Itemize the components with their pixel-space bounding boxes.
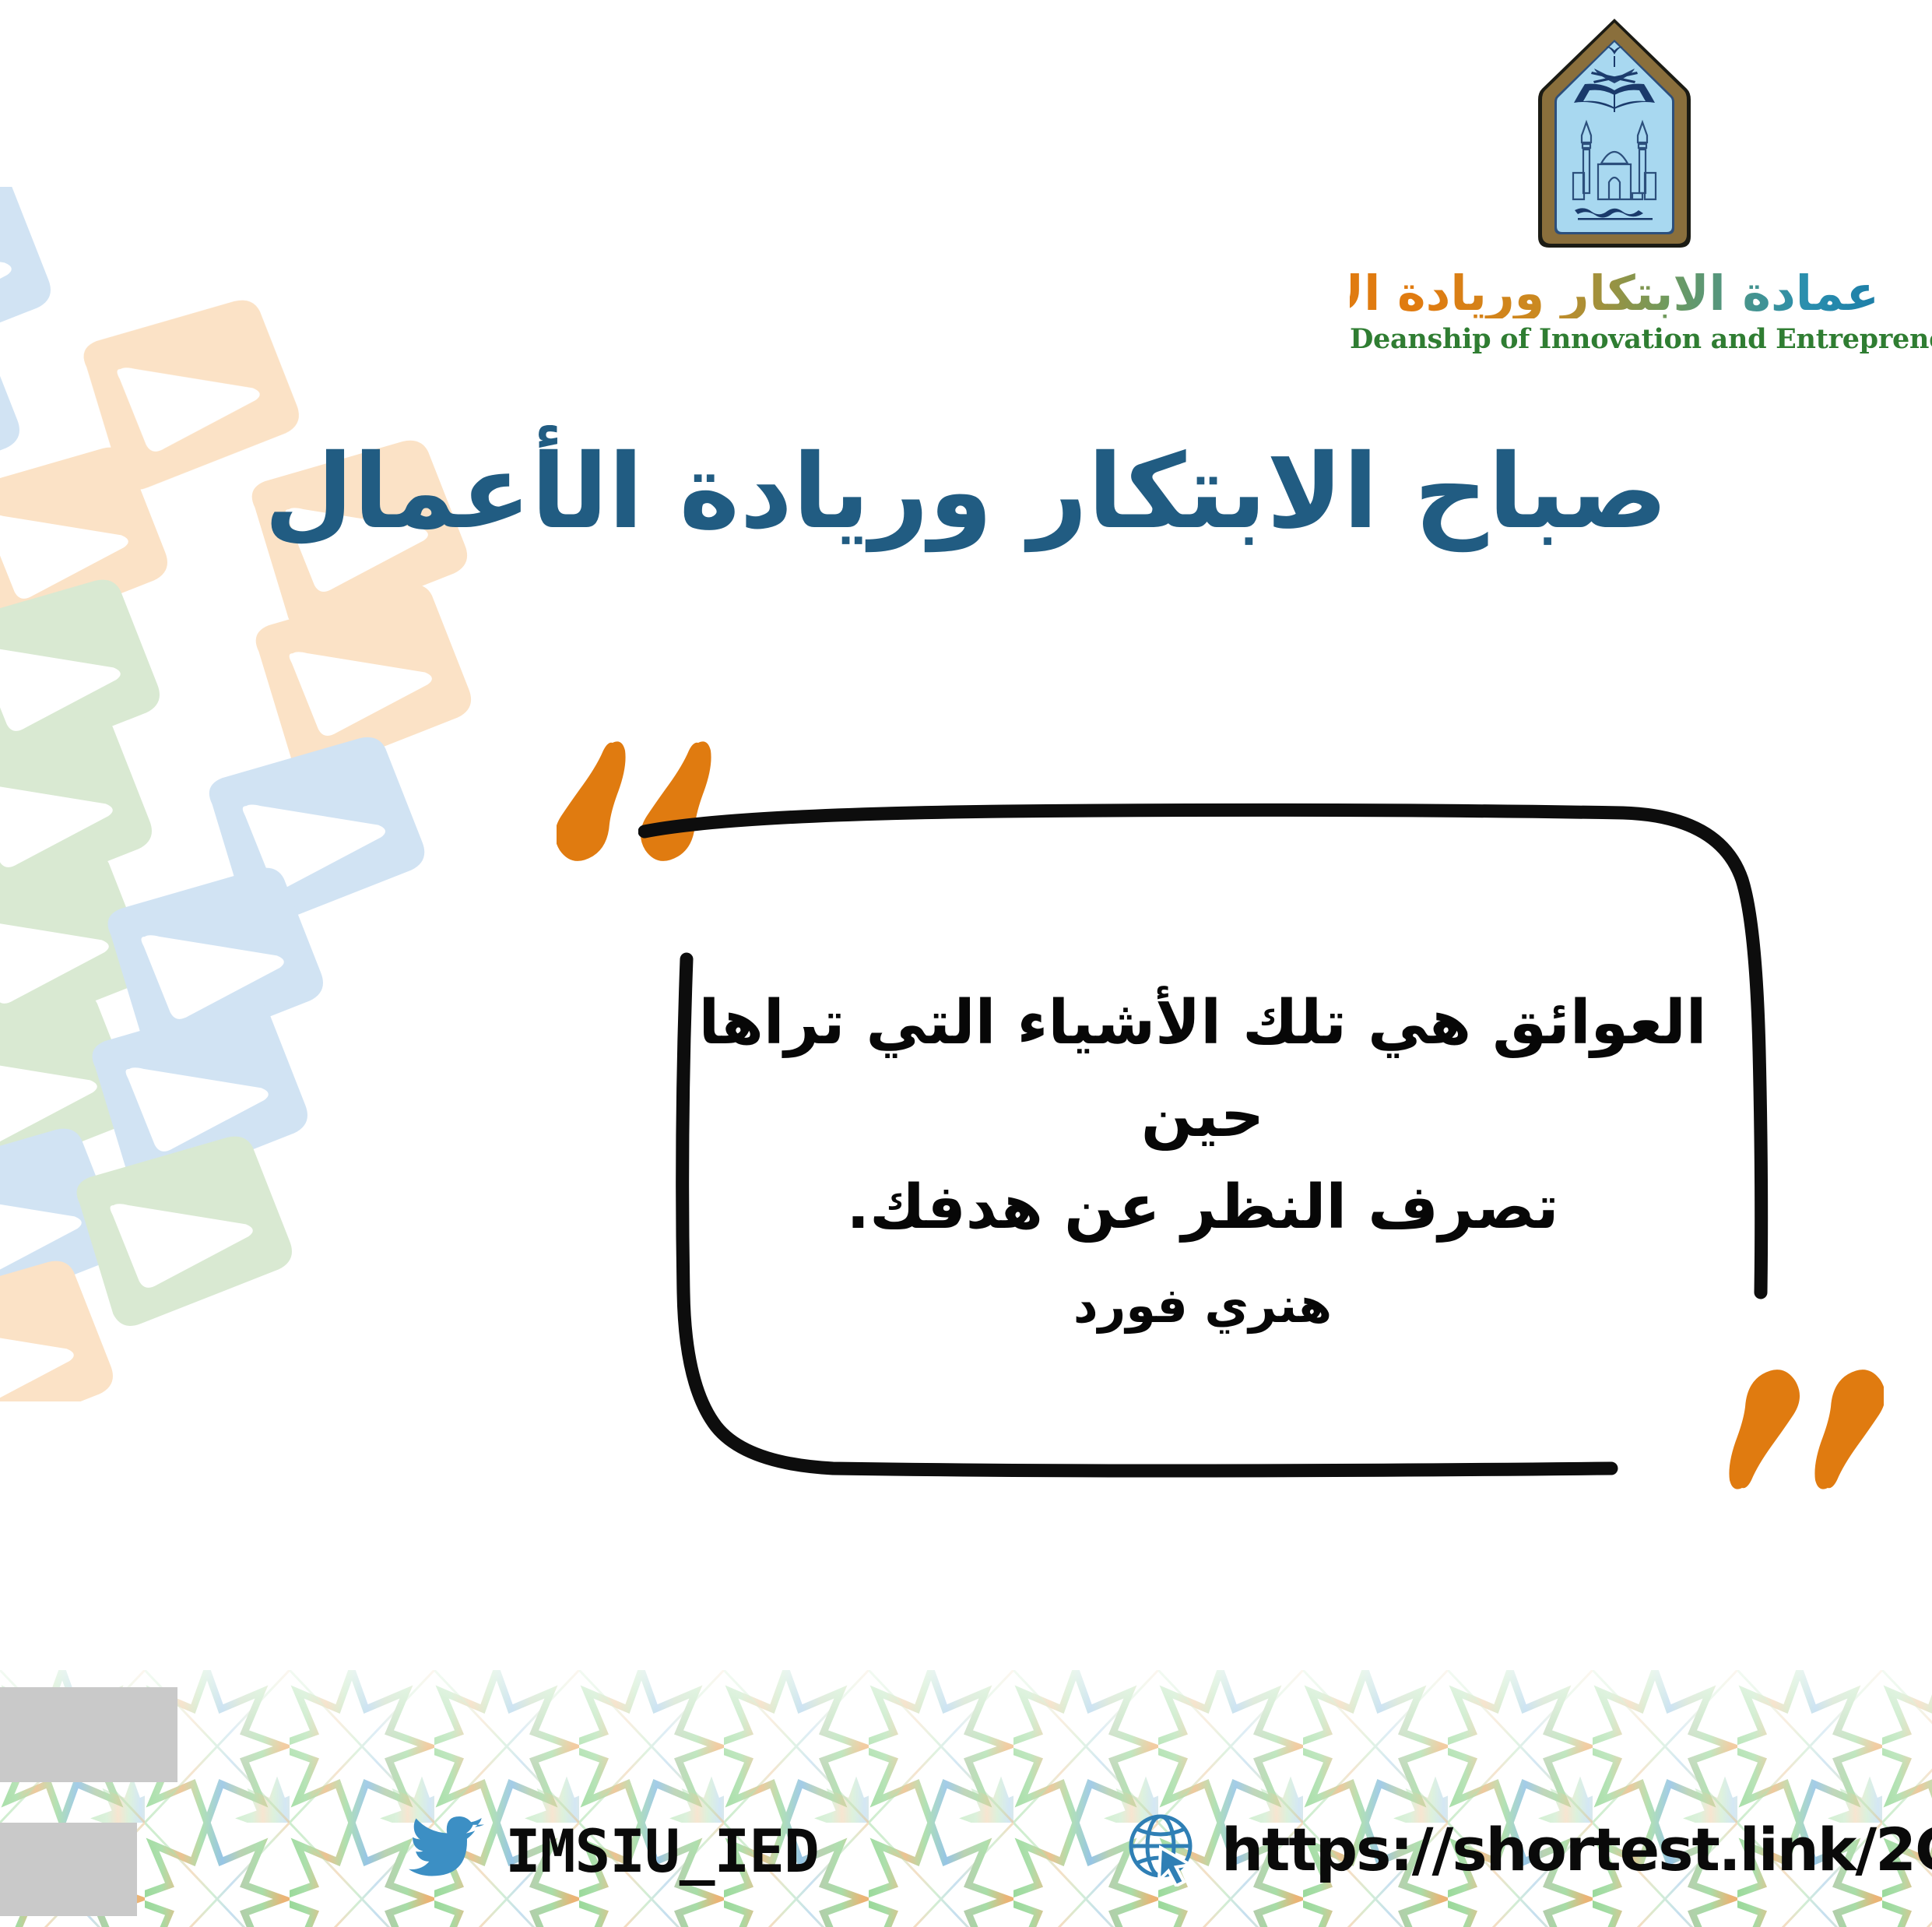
twitter-handle-item[interactable]: IMSIU_IED bbox=[409, 1815, 819, 1887]
footer-band: IMSIU_IED https://shortest.link/2CIX bbox=[0, 1670, 1932, 1927]
page-title: صباح الابتكار وريادة الأعمال bbox=[0, 432, 1932, 554]
footer-block-1 bbox=[0, 1687, 177, 1782]
twitter-handle-label[interactable]: IMSIU_IED bbox=[505, 1816, 819, 1886]
website-link-item[interactable]: https://shortest.link/2CIX bbox=[1126, 1812, 1932, 1887]
poster-card: عمادة الابتكار وريادة الأعمال Deanship o… bbox=[0, 0, 1932, 1927]
globe-cursor-icon[interactable] bbox=[1126, 1812, 1201, 1887]
twitter-bird-icon[interactable] bbox=[409, 1815, 485, 1887]
brand-logo-block: عمادة الابتكار وريادة الأعمال Deanship o… bbox=[1350, 14, 1879, 355]
quote-block: العوائق هي تلك الأشياء التي تراها حين تص… bbox=[545, 740, 1915, 1565]
islamic-star-pattern bbox=[0, 1670, 1932, 1927]
quote-text: العوائق هي تلك الأشياء التي تراها حين تص… bbox=[685, 977, 1720, 1254]
deanship-name-english: Deanship of Innovation and Entrepreneurs… bbox=[1350, 323, 1879, 355]
close-quote-icon bbox=[1705, 1327, 1884, 1491]
quote-author: هنري فورد bbox=[685, 1277, 1720, 1334]
quote-line-2: تصرف النظر عن هدفك. bbox=[685, 1162, 1720, 1254]
left-decorative-pattern bbox=[0, 187, 537, 1401]
website-url-label[interactable]: https://shortest.link/2CIX bbox=[1221, 1815, 1932, 1884]
imsiu-shield-logo-icon bbox=[1533, 14, 1696, 255]
footer-block-2 bbox=[0, 1823, 137, 1916]
quote-line-1: العوائق هي تلك الأشياء التي تراها حين bbox=[685, 977, 1720, 1162]
deanship-name-arabic: عمادة الابتكار وريادة الأعمال bbox=[1350, 268, 1879, 318]
